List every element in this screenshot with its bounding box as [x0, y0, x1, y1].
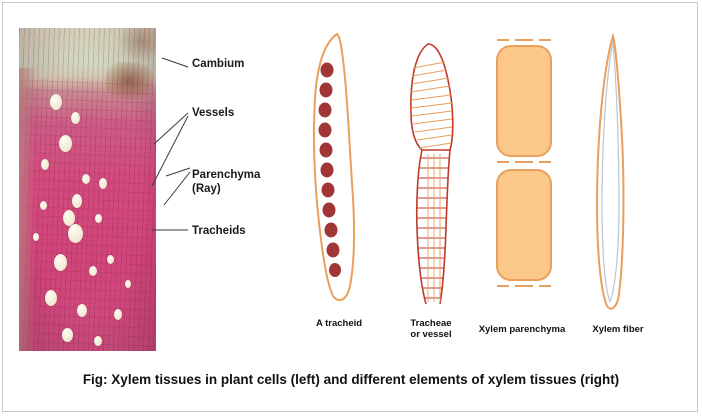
- vessel-lumen: [89, 266, 97, 276]
- vessel-lumen: [54, 254, 67, 271]
- xylem-micrograph-image: [19, 28, 156, 351]
- xylem-fiber-drawing: [569, 30, 661, 310]
- vessel-lumen: [45, 290, 57, 306]
- label-parenchyma: Parenchyma (Ray): [192, 168, 260, 196]
- label-cambium: Cambium: [192, 57, 244, 71]
- vessel-lumen: [107, 255, 114, 264]
- vessel-lumen: [95, 214, 102, 223]
- vessel-lumen: [50, 94, 62, 110]
- vessel-lumen: [41, 159, 49, 170]
- figure-caption: Fig: Xylem tissues in plant cells (left)…: [0, 372, 702, 387]
- vessel-lumen: [40, 201, 47, 210]
- caption-tracheae-line2: or vessel: [410, 329, 451, 340]
- vessel-lumen: [59, 135, 72, 152]
- vessel-lumen: [72, 194, 82, 208]
- vessel-lumen: [82, 174, 90, 184]
- caption-tracheae-vessel: Tracheae or vessel: [389, 318, 473, 340]
- vessel-lumen: [33, 233, 39, 241]
- caption-tracheae-line1: Tracheae: [410, 318, 451, 329]
- label-parenchyma-line2: (Ray): [192, 183, 221, 195]
- caption-xylem-parenchyma: Xylem parenchyma: [467, 324, 577, 335]
- xylem-parenchyma-drawing: [479, 36, 571, 316]
- vessel-lumen: [68, 224, 83, 243]
- micrograph-vignette: [19, 28, 156, 351]
- label-vessels: Vessels: [192, 106, 234, 120]
- label-tracheids: Tracheids: [192, 224, 246, 238]
- vessel-lumen: [62, 328, 73, 342]
- caption-tracheid: A tracheid: [297, 318, 381, 329]
- figure-root: Cambium Vessels Parenchyma (Ray) Trachei…: [0, 0, 702, 416]
- vessel-lumen: [94, 336, 102, 346]
- label-parenchyma-line1: Parenchyma: [192, 169, 260, 181]
- tracheid-drawing: [293, 28, 385, 308]
- tracheae-vessel-drawing: [388, 38, 480, 318]
- vessel-lumen: [71, 112, 80, 124]
- vessel-lumen: [125, 280, 131, 288]
- vessel-lumen: [99, 178, 107, 189]
- caption-xylem-fiber: Xylem fiber: [575, 324, 661, 335]
- xylem-elements-panel: A tracheid Tracheae or vessel Xylem pare…: [283, 28, 681, 351]
- vessel-lumen: [114, 309, 122, 320]
- vessel-lumen: [77, 304, 87, 317]
